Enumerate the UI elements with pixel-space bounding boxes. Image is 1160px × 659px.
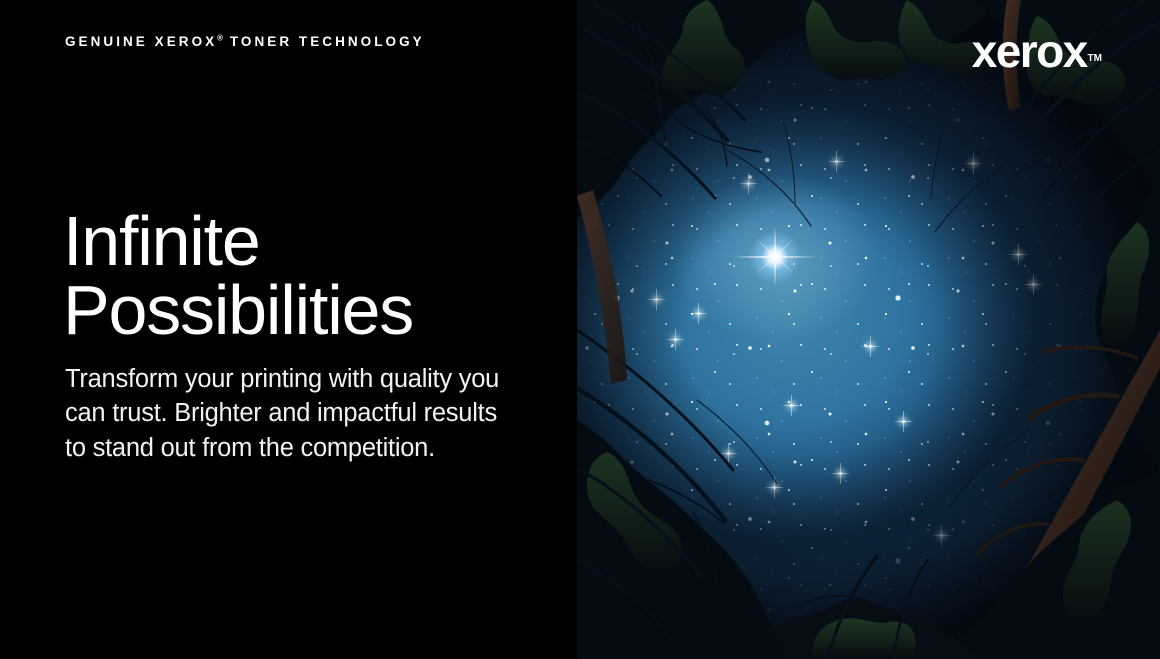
eyebrow-prefix: GENUINE XEROX	[65, 34, 217, 49]
page-title: InfinitePossibilities	[63, 207, 563, 346]
night-sky-forest-photo: xeroxTM	[577, 0, 1160, 659]
xerox-wordmark: xerox	[972, 28, 1087, 74]
xerox-logo: xeroxTM	[972, 28, 1102, 74]
trademark-symbol: TM	[1088, 53, 1102, 64]
headline-line-1: Infinite	[63, 202, 260, 280]
body-copy: Transform your printing with quality you…	[65, 362, 505, 466]
eyebrow-suffix: TONER TECHNOLOGY	[223, 34, 425, 49]
left-content-panel: GENUINE XEROX® TONER TECHNOLOGY Infinite…	[0, 0, 577, 659]
photo-vignette	[577, 0, 1160, 659]
xerox-toner-banner: xeroxTM GENUINE XEROX® TONER TECHNOLOGY …	[0, 0, 1160, 659]
eyebrow-kicker: GENUINE XEROX® TONER TECHNOLOGY	[65, 34, 425, 50]
headline-line-2: Possibilities	[63, 276, 563, 345]
